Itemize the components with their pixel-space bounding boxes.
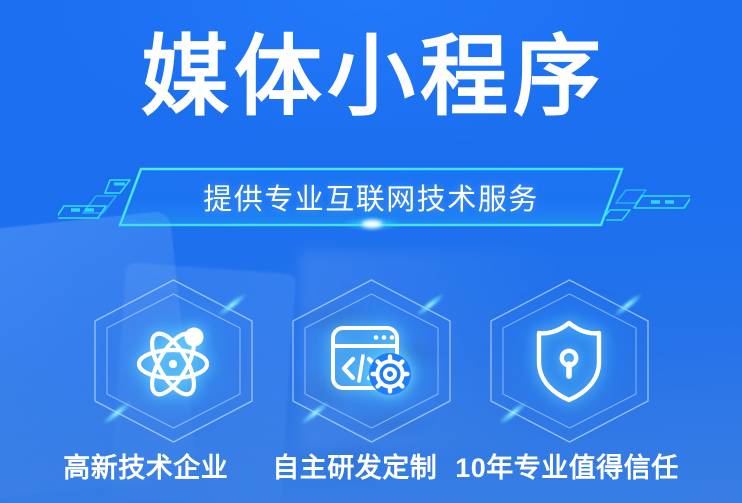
feature-item-atom[interactable]	[86, 278, 261, 444]
tech-arrow-right-decoration-icon	[606, 176, 690, 222]
feature-label-row: 高新技术企业 自主研发定制 10年专业值得信任	[0, 446, 742, 485]
feature-label-2: 10年专业值得信任	[455, 446, 679, 485]
promo-banner: 媒体小程序	[0, 0, 742, 503]
shield-lock-icon	[482, 278, 657, 444]
feature-label-0: 高新技术企业	[63, 446, 228, 485]
feature-item-shield[interactable]	[482, 278, 657, 444]
page-title: 媒体小程序	[136, 31, 606, 123]
subtitle-text: 提供专业互联网技术服务	[203, 176, 539, 218]
title-container: 媒体小程序	[0, 31, 742, 123]
atom-icon	[86, 278, 261, 444]
feature-item-code-window[interactable]	[284, 278, 459, 444]
subtitle-text-wrap: 提供专业互联网技术服务	[119, 168, 623, 226]
code-window-gear-icon	[284, 278, 459, 444]
feature-hexagon-row	[0, 278, 742, 448]
subtitle-row: 提供专业互联网技术服务	[0, 168, 742, 244]
feature-label-1: 自主研发定制	[272, 446, 437, 485]
